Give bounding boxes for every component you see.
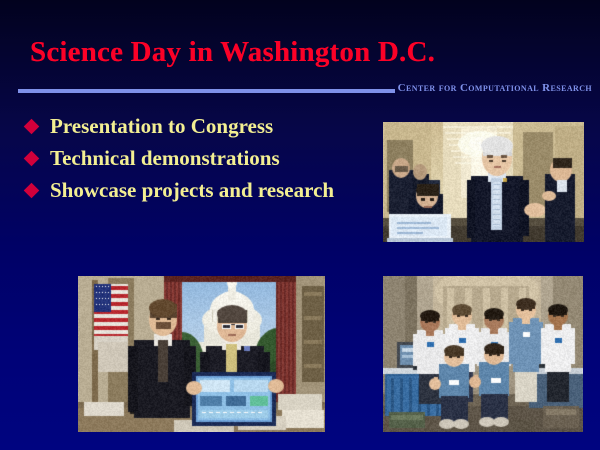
diamond-bullet-icon — [24, 118, 40, 134]
bullet-list: Presentation to Congress Technical demon… — [26, 111, 376, 207]
bullet-item-label: Showcase projects and research — [50, 180, 376, 201]
title-divider-rule — [18, 89, 395, 93]
bullet-item-label: Presentation to Congress — [50, 116, 376, 137]
page-title: Science Day in Washington D.C. — [30, 36, 435, 69]
presentation-slide: Science Day in Washington D.C. Center fo… — [0, 0, 600, 450]
list-item: Presentation to Congress — [26, 111, 376, 141]
bullet-item-label: Technical demonstrations — [50, 148, 376, 169]
photo-booth — [383, 276, 583, 432]
list-item: Technical demonstrations — [26, 143, 376, 173]
photo-capitol — [78, 276, 325, 432]
photo-hallway — [383, 122, 584, 242]
list-item: Showcase projects and research — [26, 175, 376, 205]
diamond-bullet-icon — [24, 150, 40, 166]
diamond-bullet-icon — [24, 182, 40, 198]
organization-subtitle: Center for Computational Research — [398, 82, 592, 94]
